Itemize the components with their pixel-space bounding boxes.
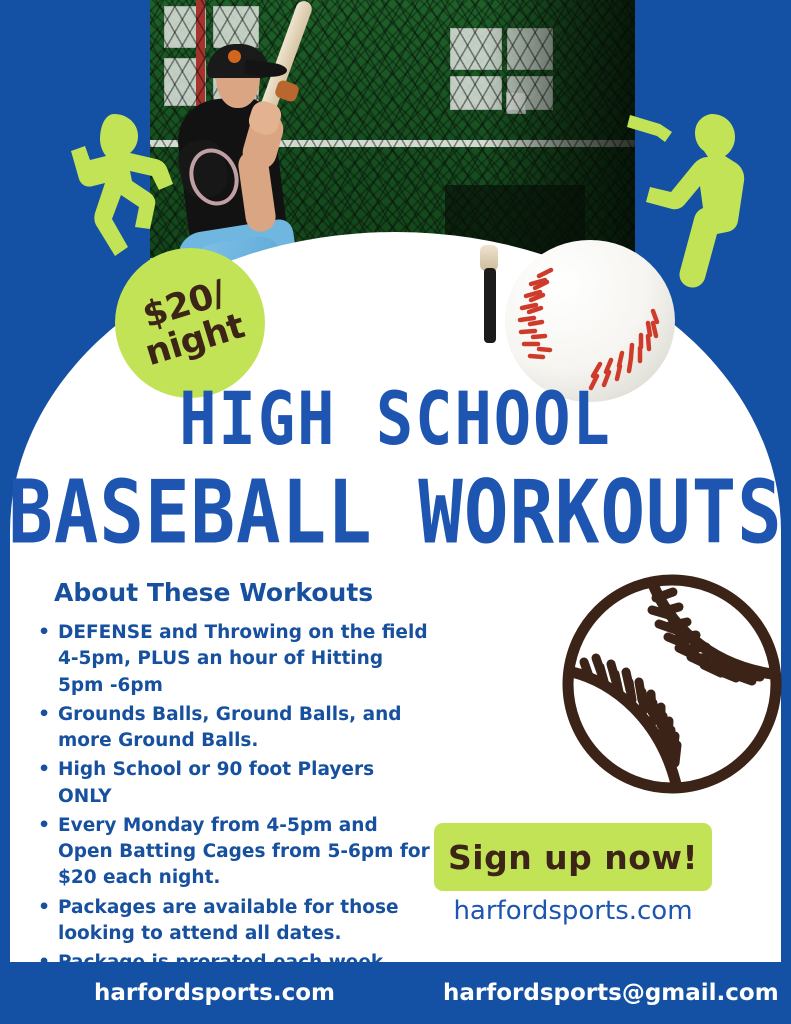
about-bullet-item: DEFENSE and Throwing on the field 4-5pm,… — [58, 620, 430, 699]
flyer-page: $20/ night HIGH SCHOOL BASEBALL WORKOUTS… — [0, 0, 791, 1024]
about-bullet-item: Packages are available for those looking… — [58, 895, 430, 948]
headline-line-2: BASEBALL WORKOUTS — [0, 462, 791, 563]
cta-website-link[interactable]: harfordsports.com — [434, 896, 712, 926]
about-bullet-item: High School or 90 foot Players ONLY — [58, 757, 430, 810]
sign-up-button-label: Sign up now! — [448, 838, 698, 877]
footer-email[interactable]: harfordsports@gmail.com — [443, 980, 779, 1006]
cap-logo — [228, 50, 241, 63]
small-bat-shaft — [484, 268, 496, 343]
sign-up-button[interactable]: Sign up now! — [434, 823, 712, 891]
price-badge-text: $20/ night — [131, 273, 249, 373]
about-heading: About These Workouts — [54, 578, 373, 607]
headline-line-1: HIGH SCHOOL — [0, 375, 791, 461]
footer-bar: harfordsports.com harfordsports@gmail.co… — [10, 962, 781, 1024]
about-bullet-item: Grounds Balls, Ground Balls, and more Gr… — [58, 702, 430, 755]
baseball-line-drawing-icon — [556, 568, 788, 800]
footer-website[interactable]: harfordsports.com — [94, 980, 335, 1006]
about-bullet-item: Every Monday from 4-5pm and Open Batting… — [58, 813, 430, 892]
about-bullet-list: DEFENSE and Throwing on the field 4-5pm,… — [30, 620, 430, 979]
